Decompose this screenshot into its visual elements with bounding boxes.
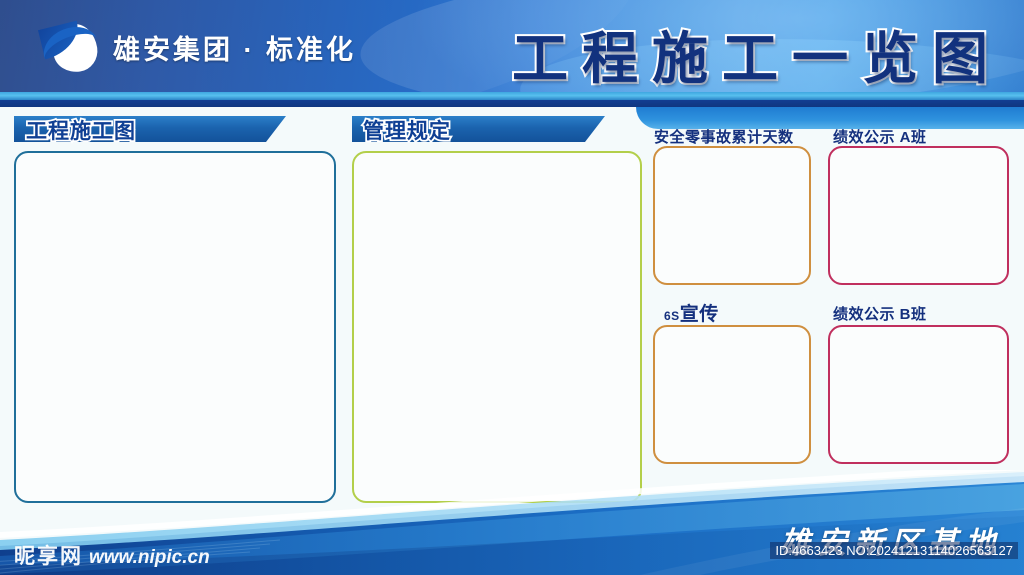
page-title: 工程施工一览图 [512,14,1002,92]
panel-safety-zero-accident-days[interactable] [653,146,811,285]
section-title-construction-drawing: 工程施工图 [26,115,136,145]
caption-performance-class-a: 绩效公示 A班 [833,126,927,147]
section-title-management-rules: 管理规定 [363,115,451,145]
header-accent-strip-light [0,92,1024,100]
panel-construction-drawing[interactable] [14,151,336,503]
panel-six-s-promotion[interactable] [653,325,811,464]
panel-performance-class-b[interactable] [828,325,1009,464]
panel-performance-class-a[interactable] [828,146,1009,285]
image-id-badge: ID:4663423 NO:20241213114026563127 [770,542,1018,559]
xiongan-egg-logo-icon [47,22,103,74]
caption-six-s-main: 宣传 [680,304,719,325]
caption-safety-zero-accident-days: 安全零事故累计天数 [654,126,794,147]
caption-six-s-promotion: 6S宣传 [664,299,719,326]
header-accent-strip-dark [0,100,1024,107]
panel-management-rules[interactable] [352,151,642,503]
site-watermark: 昵享网www.nipic.cn [14,540,210,570]
brand-name: 雄安集团 · 标准化 [113,28,356,67]
caption-performance-class-b: 绩效公示 B班 [833,303,927,324]
header-banner: 雄安集团 · 标准化 工程施工一览图 [0,0,1024,92]
watermark-site-name: 昵享网 [14,545,83,568]
watermark-url: www.nipic.cn [89,547,210,568]
caption-six-s-prefix: 6S [664,309,680,323]
poster-board: 雄安集团 · 标准化 工程施工一览图 工程施工图 管理规定 安全零事故累计天数 … [0,0,1024,575]
